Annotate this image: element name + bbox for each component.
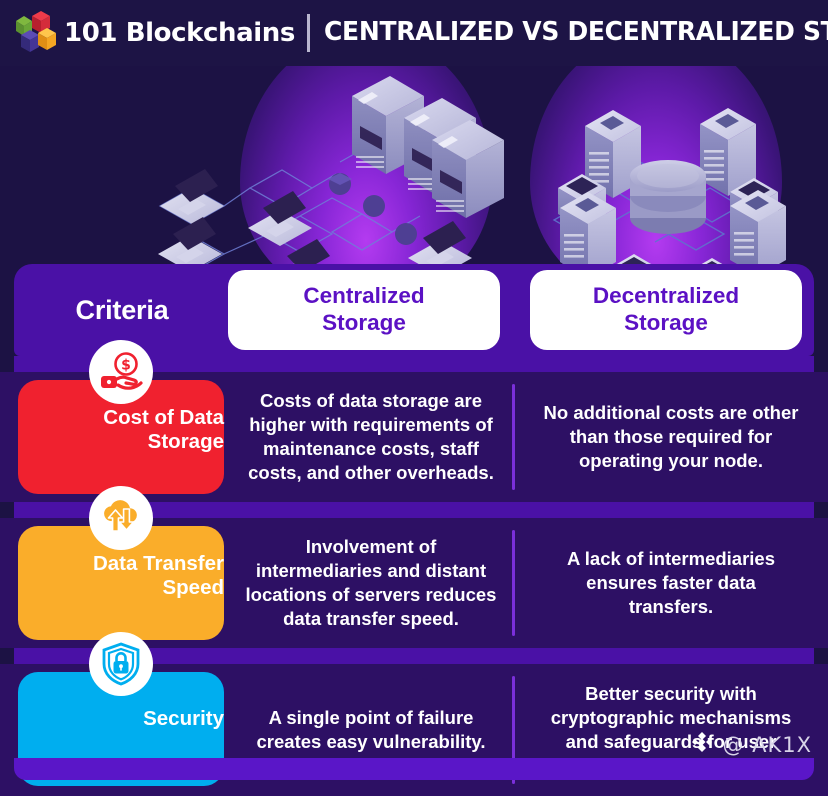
cell-decentralized-speed: A lack of intermediaries ensures faster … [528, 518, 814, 648]
brand-name: 101 Blockchains [64, 20, 295, 46]
criteria-badge-cost-line2: Storage [148, 430, 224, 454]
column-header-centralized-line2: Storage [322, 310, 406, 337]
blockchain-cubes-logo-icon [12, 10, 58, 56]
cloud-transfer-arrows-icon [89, 486, 153, 550]
table-row-cost: Cost of Data Storage $ Costs of data sto… [0, 372, 828, 502]
column-header-decentralized-line1: Decentralized [593, 283, 739, 310]
table-footer-band [14, 758, 814, 780]
header-bar: 101 Blockchains CENTRALIZED VS DECENTRAL… [0, 0, 828, 66]
column-header-centralized-line1: Centralized [303, 283, 424, 310]
comparison-table: Criteria Centralized Storage Decentraliz… [0, 262, 828, 783]
column-header-decentralized-line2: Storage [624, 310, 708, 337]
column-divider-1 [512, 384, 515, 490]
cell-decentralized-cost: No additional costs are other than those… [528, 372, 814, 502]
column-header-decentralized: Decentralized Storage [530, 270, 802, 350]
watermark: @ AK1X [690, 730, 812, 759]
table-row-speed: Data Transfer Speed Involveme [0, 518, 828, 648]
criteria-badge-security-line1: Security [143, 707, 224, 731]
decentralized-nodes-database-illustration [0, 66, 828, 266]
header-divider [307, 14, 310, 52]
page-title: CENTRALIZED VS DECENTRALIZED STORAGE [324, 20, 828, 46]
column-header-centralized: Centralized Storage [228, 270, 500, 350]
hero-illustrations [0, 66, 828, 266]
watermark-text: @ AK1X [722, 733, 812, 757]
svg-text:$: $ [121, 358, 131, 374]
database-cylinder [630, 160, 706, 234]
shield-lock-icon [89, 632, 153, 696]
binance-diamond-icon [690, 730, 714, 759]
criteria-badge-speed-line1: Data Transfer [93, 552, 224, 576]
criteria-badge-speed-line2: Speed [162, 576, 224, 600]
infographic-page: 101 Blockchains CENTRALIZED VS DECENTRAL… [0, 0, 828, 783]
hand-holding-dollar-coin-icon: $ [89, 340, 153, 404]
cell-centralized-cost: Costs of data storage are higher with re… [230, 372, 512, 502]
cell-centralized-speed: Involvement of intermediaries and distan… [230, 518, 512, 648]
criteria-badge-cost-line1: Cost of Data [103, 406, 224, 430]
column-divider-2 [512, 530, 515, 636]
